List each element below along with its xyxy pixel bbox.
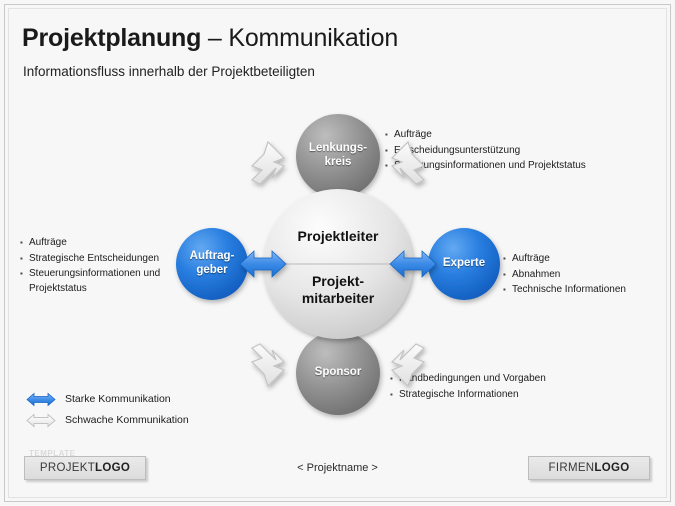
bullet-list-experte: ▪ Aufträge ▪ Abnahmen ▪ Technische Infor… xyxy=(503,252,663,299)
weak-arrow-top-right xyxy=(392,142,424,184)
bullet-marker-icon: ▪ xyxy=(20,267,29,282)
list-item: ▪ Aufträge xyxy=(20,236,170,251)
list-item: ▪ Abnahmen xyxy=(503,268,663,283)
legend-label-weak: Schwache Kommunikation xyxy=(65,414,189,426)
page-title-bold: Projektplanung xyxy=(22,24,201,52)
page-subtitle: Informationsfluss innerhalb der Projektb… xyxy=(23,64,315,79)
weak-arrow-bottom-right xyxy=(392,344,424,386)
company-logo-bold: LOGO xyxy=(594,462,629,474)
legend-item-strong: Starke Kommunikation xyxy=(26,390,189,408)
list-item-label: Steuerungsinformationen und Projektstatu… xyxy=(29,267,170,296)
page-title-rest: – Kommunikation xyxy=(201,24,398,52)
communication-diagram: Lenkungs- kreis Sponsor Auftrag- geber E… xyxy=(168,108,508,438)
list-item-label: Aufträge xyxy=(512,252,663,267)
list-item-label: Strategische Entscheidungen xyxy=(29,252,170,267)
list-item-label: Technische Informationen xyxy=(512,283,663,298)
list-item-label: Aufträge xyxy=(29,236,170,251)
company-logo-light: FIRMEN xyxy=(549,462,595,474)
legend-item-weak: Schwache Kommunikation xyxy=(26,411,189,429)
list-item-label: Abnahmen xyxy=(512,268,663,283)
strong-communication-arrow-icon xyxy=(26,392,56,407)
weak-communication-arrow-icon xyxy=(26,413,56,428)
company-logo-placeholder[interactable]: FIRMENLOGO xyxy=(528,456,650,480)
bullet-list-auftraggeber: ▪ Aufträge ▪ Strategische Entscheidungen… xyxy=(20,236,170,297)
list-item: ▪ Aufträge xyxy=(503,252,663,267)
legend: Starke Kommunikation Schwache Kommunikat… xyxy=(26,390,189,432)
bullet-marker-icon: ▪ xyxy=(20,252,29,267)
list-item: ▪ Steuerungsinformationen und Projektsta… xyxy=(20,267,170,296)
node-auftraggeber xyxy=(176,228,248,300)
weak-arrow-top-left xyxy=(252,142,284,184)
node-experte xyxy=(428,228,500,300)
page-title: Projektplanung – Kommunikation xyxy=(22,24,398,53)
slide-canvas: Projektplanung – Kommunikation Informati… xyxy=(0,0,675,506)
node-sponsor xyxy=(296,331,380,415)
list-item: ▪ Technische Informationen xyxy=(503,283,663,298)
legend-label-strong: Starke Kommunikation xyxy=(65,393,171,405)
weak-arrow-bottom-left xyxy=(252,344,284,386)
node-lenkungskreis xyxy=(296,114,380,198)
bullet-marker-icon: ▪ xyxy=(20,236,29,251)
list-item: ▪ Strategische Entscheidungen xyxy=(20,252,170,267)
